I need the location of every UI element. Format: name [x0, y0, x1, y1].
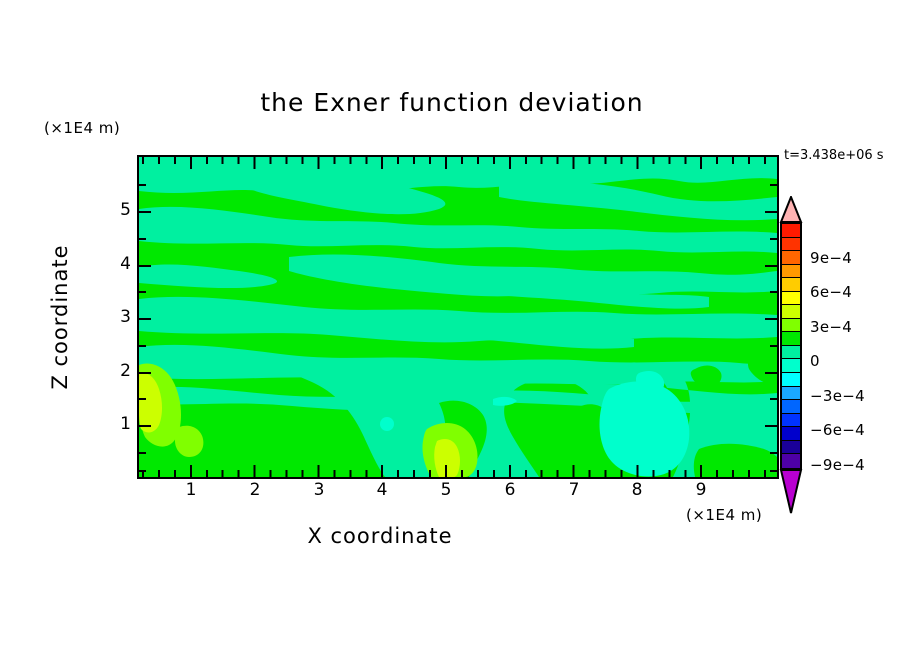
colorbar-band: [782, 373, 800, 387]
y-tick-label: 3: [101, 307, 131, 327]
x-axis-title: X coordinate: [0, 524, 760, 548]
colorbar-over-arrow: [779, 196, 803, 223]
page-title: the Exner function deviation: [0, 88, 904, 117]
colorbar-band: [782, 414, 800, 428]
colorbar-band: [782, 292, 800, 306]
colorbar-label: −3e−4: [810, 387, 865, 405]
x-tick-label: 4: [362, 480, 402, 500]
x-tick-label: 7: [554, 480, 594, 500]
y-tick-label: 1: [101, 414, 131, 434]
colorbar-label: 6e−4: [810, 283, 852, 301]
x-tick-label: 9: [681, 480, 721, 500]
colorbar-band: [782, 238, 800, 252]
colorbar-band: [782, 427, 800, 441]
colorbar-band: [782, 305, 800, 319]
colorbar-band: [782, 319, 800, 333]
x-axis-unit-label: (×1E4 m): [686, 506, 762, 524]
colorbar-band: [782, 265, 800, 279]
x-tick-label: 3: [299, 480, 339, 500]
x-tick-label: 2: [235, 480, 275, 500]
colorbar: [780, 222, 802, 470]
y-axis-title: Z coordinate: [48, 197, 72, 437]
colorbar-label: 0: [810, 352, 820, 370]
x-tick-label: 8: [617, 480, 657, 500]
colorbar-label: 3e−4: [810, 318, 852, 336]
colorbar-band: [782, 251, 800, 265]
colorbar-band: [782, 400, 800, 414]
colorbar-label: −9e−4: [810, 456, 865, 474]
colorbar-band: [782, 359, 800, 373]
colorbar-band: [782, 441, 800, 455]
colorbar-band: [782, 278, 800, 292]
y-axis-unit-label: (×1E4 m): [44, 119, 120, 137]
y-tick-label: 5: [101, 200, 131, 220]
contour-field: [139, 157, 777, 477]
colorbar-band: [782, 454, 800, 468]
y-tick-label: 4: [101, 254, 131, 274]
colorbar-band: [782, 346, 800, 360]
colorbar-under-arrow: [779, 469, 803, 514]
colorbar-band: [782, 224, 800, 238]
colorbar-label: 9e−4: [810, 249, 852, 267]
colorbar-band: [782, 387, 800, 401]
x-tick-label: 6: [490, 480, 530, 500]
timestamp-annotation: t=3.438e+06 s: [784, 148, 884, 163]
x-tick-label: 1: [171, 480, 211, 500]
colorbar-band: [782, 332, 800, 346]
contour-plot-area: [137, 155, 779, 479]
y-tick-label: 2: [101, 361, 131, 381]
colorbar-label: −6e−4: [810, 421, 865, 439]
x-tick-label: 5: [426, 480, 466, 500]
